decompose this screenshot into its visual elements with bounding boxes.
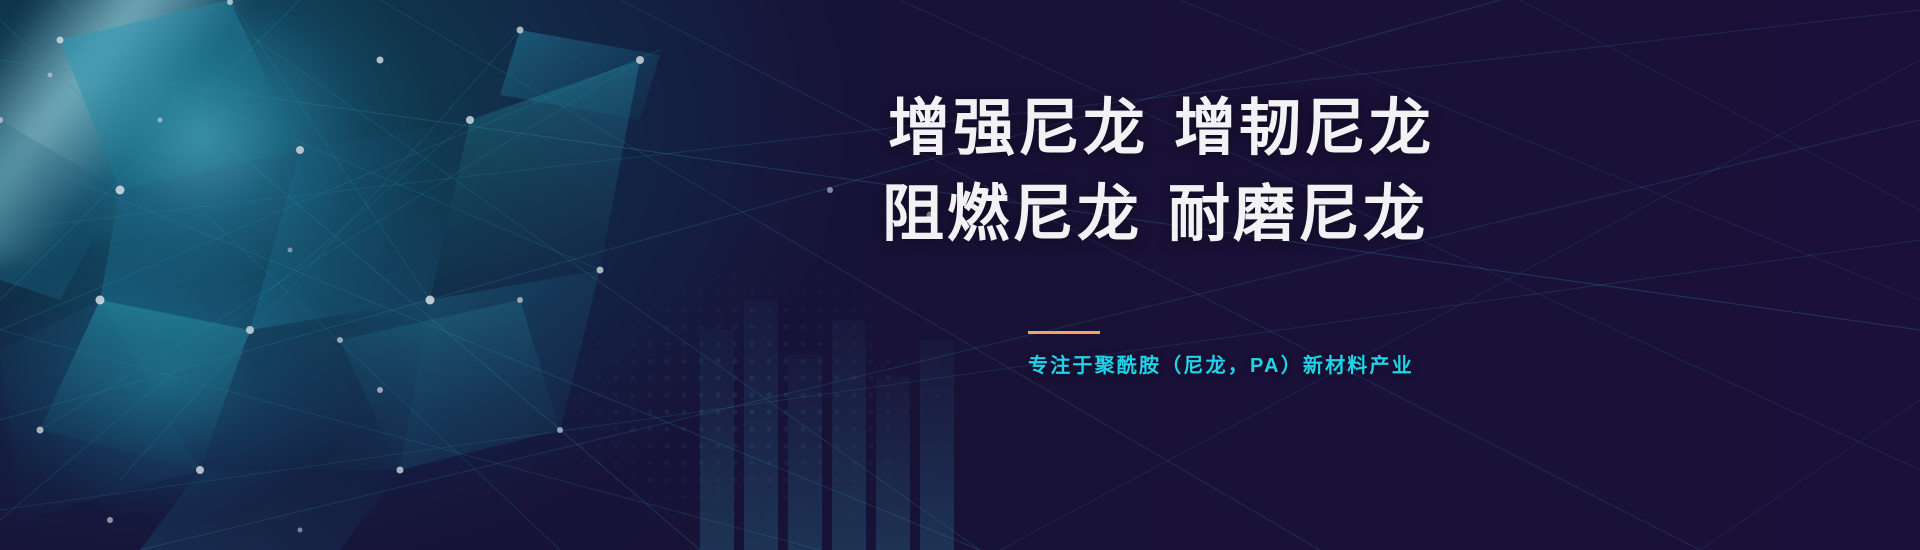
tagline-text: 专注于聚酰胺（尼龙，PA）新材料产业: [1028, 349, 1448, 378]
banner-content: 增强尼龙增韧尼龙 阻燃尼龙耐磨尼龙 专注于聚酰胺（尼龙，PA）新材料产业: [888, 86, 1448, 378]
hero-banner: 增强尼龙增韧尼龙 阻燃尼龙耐磨尼龙 专注于聚酰胺（尼龙，PA）新材料产业: [0, 0, 1920, 550]
headline-line-1: 增强尼龙增韧尼龙: [888, 86, 1448, 172]
headline-line-2: 阻燃尼龙耐磨尼龙: [882, 172, 1448, 258]
headline-phrase-4: 耐磨尼龙: [1168, 180, 1428, 249]
headline-phrase-1: 增强尼龙: [888, 94, 1148, 163]
orange-divider: [1028, 331, 1100, 334]
headline-phrase-2: 增韧尼龙: [1174, 94, 1434, 163]
divider-wrapper: 专注于聚酰胺（尼龙，PA）新材料产业: [888, 331, 1448, 378]
headline-phrase-3: 阻燃尼龙: [882, 180, 1142, 249]
